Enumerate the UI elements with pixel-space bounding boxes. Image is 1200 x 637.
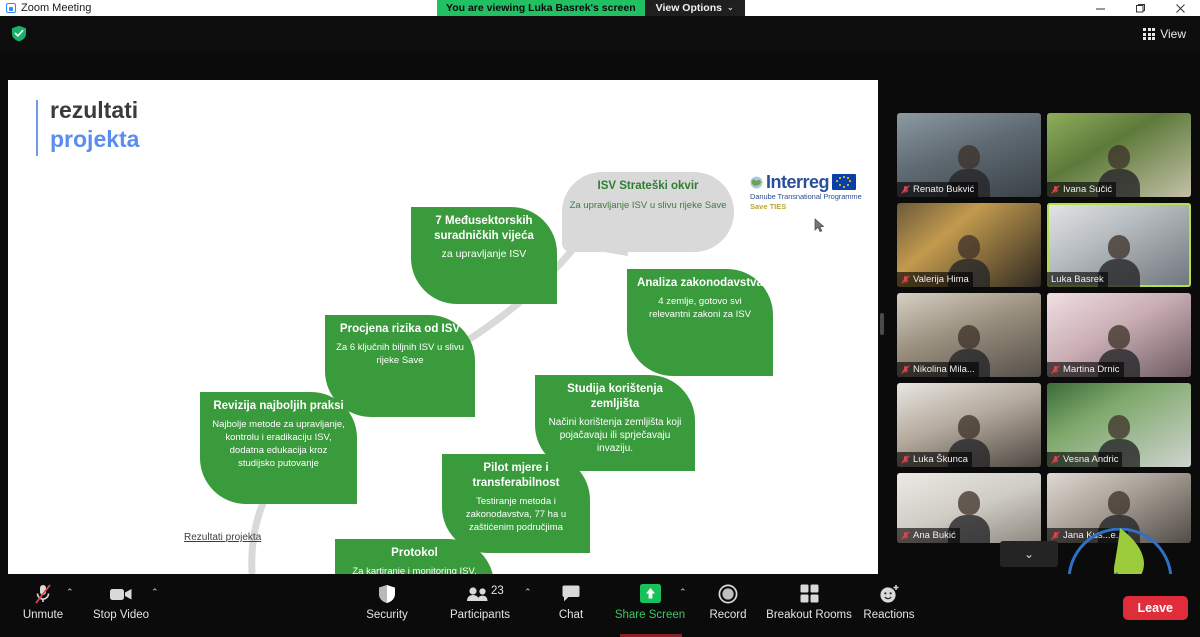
view-button-label: View	[1160, 27, 1186, 41]
meeting-controls-toolbar: Unmute ⌃ Stop Video ⌃ Security	[0, 574, 1200, 637]
title-bar-left: Zoom Meeting	[0, 0, 91, 16]
participant-name-bar: Vesna Andric	[1047, 452, 1122, 467]
leaf-subtitle: 4 zemlje, gotovo svi relevantni zakoni z…	[637, 295, 763, 321]
participant-name-bar: Luka Škunca	[897, 452, 972, 467]
participant-tile[interactable]: Vesna Andric	[1047, 383, 1191, 467]
globe-icon	[750, 176, 763, 189]
participant-tile-active-speaker[interactable]: Luka Basrek	[1047, 203, 1191, 287]
participant-name: Valerija Hima	[913, 274, 969, 285]
breakout-rooms-label: Breakout Rooms	[766, 609, 852, 622]
leaf-card-risk-assessment: Procjena rizika od ISV Za 6 ključnih bil…	[325, 315, 475, 417]
chat-bubble-icon	[561, 582, 581, 605]
leaf-card-protocol: Protokol Za kartiranje i monitoring ISV,…	[335, 539, 494, 574]
chevron-down-icon: ⌄	[727, 0, 734, 16]
participant-tile[interactable]: Ivana Sučić	[1047, 113, 1191, 197]
stop-video-label: Stop Video	[93, 609, 149, 622]
leaf-subtitle: Za kartiranje i monitoring ISV, uspostav…	[345, 565, 484, 574]
participant-name-bar: Renato Bukvić	[897, 182, 978, 197]
participant-name: Luka Basrek	[1051, 274, 1104, 285]
leaf-card-pilot-measures: Pilot mjere i transferabilnost Testiranj…	[442, 454, 590, 553]
maximize-button[interactable]	[1120, 0, 1160, 16]
grid-view-icon	[1143, 28, 1155, 40]
participants-count: 23	[491, 585, 504, 597]
leaf-card-legislation-analysis: Analiza zakonodavstva 4 zemlje, gotovo s…	[627, 269, 773, 376]
participant-name-bar: Ana Bukić	[897, 528, 960, 543]
slide-title-line-2: projekta	[50, 125, 139, 154]
participant-grid-next-page-button[interactable]: ⌄	[1000, 541, 1058, 567]
chat-label: Chat	[559, 609, 583, 622]
leaf-subtitle: Najbolje metode za upravljanje, kontrolu…	[210, 418, 347, 470]
audio-options-caret-icon[interactable]: ⌃	[66, 587, 74, 598]
interreg-project-label: Save TIES	[750, 202, 878, 211]
record-button[interactable]: Record	[685, 582, 771, 622]
leaf-subtitle: Za 6 ključnih biljnih ISV u slivu rijeke…	[335, 341, 465, 367]
participant-name: Nikolina Mila...	[913, 364, 975, 375]
share-panel-resize-handle[interactable]	[880, 313, 884, 335]
muted-microphone-icon	[901, 455, 910, 464]
participant-name: Vesna Andric	[1063, 454, 1118, 465]
security-label: Security	[366, 609, 408, 622]
participant-name-bar: Martina Drnic	[1047, 362, 1124, 377]
chat-button[interactable]: Chat	[528, 582, 614, 622]
microphone-muted-icon	[34, 582, 52, 605]
unmute-label: Unmute	[23, 609, 63, 622]
interreg-programme-label: Danube Transnational Programme	[750, 192, 878, 201]
eu-flag-icon	[832, 174, 856, 190]
participant-tile[interactable]: Ana Bukić	[897, 473, 1041, 543]
interreg-wordmark: Interreg	[766, 173, 829, 191]
share-screen-icon	[639, 582, 662, 605]
muted-microphone-icon	[901, 275, 910, 284]
breakout-rooms-button[interactable]: Breakout Rooms	[766, 582, 852, 622]
slide-heading: rezultati projekta	[36, 96, 139, 154]
shared-screen-slide[interactable]: rezultati projekta ISV Strateški okvir Z…	[8, 80, 878, 574]
muted-microphone-icon	[901, 185, 910, 194]
participant-tile[interactable]: Luka Škunca	[897, 383, 1041, 467]
leaf-subtitle: Načini korištenja zemljišta koji pojačav…	[545, 416, 685, 455]
video-options-caret-icon[interactable]: ⌃	[151, 587, 159, 598]
leaf-card-consultative-councils: 7 Međusektorskih suradničkih vijeća za u…	[411, 207, 557, 304]
participant-tile[interactable]: Martina Drnic	[1047, 293, 1191, 377]
window-title: Zoom Meeting	[21, 0, 91, 16]
share-screen-label: Share Screen	[615, 609, 685, 622]
leaf-title: Revizija najboljih praksi	[213, 399, 343, 414]
view-options-label: View Options	[656, 0, 722, 16]
participant-name-bar: Luka Basrek	[1047, 272, 1108, 287]
interreg-logo-row: Interreg	[750, 173, 878, 191]
mouse-cursor-icon	[814, 218, 825, 238]
muted-microphone-icon	[901, 531, 910, 540]
participant-name-bar: Valerija Hima	[897, 272, 973, 287]
meeting-top-bar: View	[0, 16, 1200, 52]
muted-microphone-icon	[1051, 185, 1060, 194]
participant-name: Luka Škunca	[913, 454, 968, 465]
participant-tile[interactable]: Valerija Hima	[897, 203, 1041, 287]
record-circle-icon	[718, 582, 738, 605]
shield-icon	[378, 582, 396, 605]
strategic-framework-box: ISV Strateški okvir Za upravljanje ISV u…	[562, 172, 734, 252]
strategic-framework-title: ISV Strateški okvir	[598, 180, 699, 192]
close-button[interactable]	[1160, 0, 1200, 16]
reactions-smiley-icon	[879, 582, 900, 605]
leaf-subtitle: Testiranje metoda i zakonodavstva, 77 ha…	[452, 495, 580, 534]
leaf-title: Procjena rizika od ISV	[340, 322, 460, 337]
participant-name: Ana Bukić	[913, 530, 956, 541]
muted-microphone-icon	[901, 365, 910, 374]
leaf-card-best-practice-review: Revizija najboljih praksi Najbolje metod…	[200, 392, 357, 504]
leaf-title: 7 Međusektorskih suradničkih vijeća	[421, 214, 547, 244]
participants-label: Participants	[450, 609, 510, 622]
breakout-rooms-grid-icon	[800, 582, 819, 605]
leaf-title: Pilot mjere i transferabilnost	[452, 461, 580, 491]
viewing-screen-banner: You are viewing Luka Basrek's screen	[437, 0, 645, 16]
heading-accent-bar	[36, 100, 38, 156]
participant-name: Martina Drnic	[1063, 364, 1120, 375]
window-title-bar: Zoom Meeting You are viewing Luka Basrek…	[0, 0, 1200, 16]
view-layout-button[interactable]: View	[1137, 24, 1192, 44]
leaf-title: Studija korištenja zemljišta	[545, 382, 685, 412]
slide-title-line-1: rezultati	[50, 96, 139, 125]
leave-meeting-button[interactable]: Leave	[1123, 596, 1188, 620]
view-options-button[interactable]: View Options ⌄	[645, 0, 745, 16]
participant-name: Ivana Sučić	[1063, 184, 1112, 195]
security-button[interactable]: Security	[344, 582, 430, 622]
reactions-button[interactable]: Reactions	[846, 582, 932, 622]
reactions-label: Reactions	[863, 609, 914, 622]
muted-microphone-icon	[1051, 365, 1060, 374]
strategic-framework-subtitle: Za upravljanje ISV u slivu rijeke Save	[570, 199, 727, 212]
participant-name-bar: Ivana Sučić	[1047, 182, 1116, 197]
participant-tile[interactable]: Nikolina Mila...	[897, 293, 1041, 377]
leaf-title: Protokol	[391, 546, 438, 561]
participants-icon	[466, 582, 494, 605]
window-controls	[1080, 0, 1200, 16]
record-label: Record	[709, 609, 746, 622]
leaf-subtitle: za upravljanje ISV	[442, 248, 527, 261]
participant-name: Renato Bukvić	[913, 184, 974, 195]
participant-tile[interactable]: Renato Bukvić	[897, 113, 1041, 197]
zoom-app-icon	[6, 3, 16, 13]
participants-button[interactable]: Participants	[437, 582, 523, 622]
muted-microphone-icon	[1051, 455, 1060, 464]
results-project-link[interactable]: Rezultati projekta	[184, 532, 261, 543]
interreg-logo: Interreg Danube Transnational Programme …	[750, 173, 878, 211]
encryption-shield-icon[interactable]	[11, 25, 27, 42]
minimize-button[interactable]	[1080, 0, 1120, 16]
participant-name-bar: Nikolina Mila...	[897, 362, 979, 377]
zoom-meeting-window: Zoom Meeting You are viewing Luka Basrek…	[0, 0, 1200, 637]
participant-video-grid: Renato Bukvić Ivana Sučić Valerija Hima	[897, 113, 1195, 543]
leaf-title: Analiza zakonodavstva	[637, 276, 763, 291]
video-camera-icon	[109, 582, 133, 605]
screen-share-status-bar: You are viewing Luka Basrek's screen Vie…	[437, 0, 745, 16]
